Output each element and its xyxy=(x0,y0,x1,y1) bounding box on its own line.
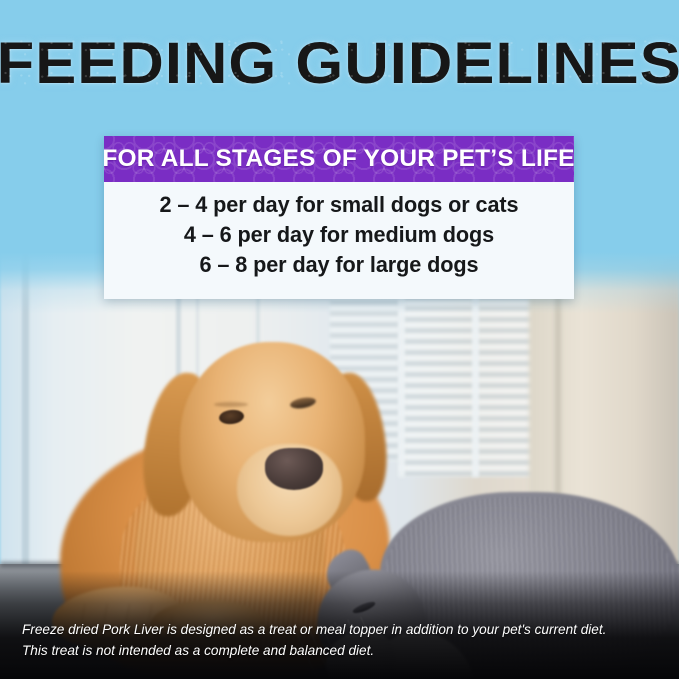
infographic-root: FEEDING GUIDELINES xyxy=(0,0,679,679)
feeding-range: 4 – 6 xyxy=(184,222,232,247)
legal-line-2: This treat is not intended as a complete… xyxy=(22,640,662,661)
feeding-description: per day for small dogs or cats xyxy=(213,192,518,217)
feeding-description: per day for large dogs xyxy=(253,252,478,277)
feeding-line: 4 – 6per day for medium dogs xyxy=(108,220,571,250)
legal-line-1: Freeze dried Pork Liver is designed as a… xyxy=(22,619,662,640)
feeding-guidelines-card: FOR ALL STAGES OF YOUR PET’S LIFE 2 – 4p… xyxy=(104,136,574,299)
dog-nose xyxy=(265,448,323,490)
legal-disclaimer: Freeze dried Pork Liver is designed as a… xyxy=(22,619,662,661)
page-title-area: FEEDING GUIDELINES xyxy=(0,34,679,96)
feeding-range: 6 – 8 xyxy=(199,252,247,277)
dog-brow xyxy=(214,402,248,407)
feeding-description: per day for medium dogs xyxy=(237,222,494,247)
hero-photo xyxy=(0,252,679,679)
card-banner-title: FOR ALL STAGES OF YOUR PET’S LIFE xyxy=(104,145,574,173)
feeding-line: 6 – 8per day for large dogs xyxy=(108,250,571,280)
card-body: 2 – 4per day for small dogs or cats 4 – … xyxy=(104,182,574,290)
feeding-line: 2 – 4per day for small dogs or cats xyxy=(108,190,571,220)
card-banner: FOR ALL STAGES OF YOUR PET’S LIFE xyxy=(104,136,574,182)
feeding-range: 2 – 4 xyxy=(160,192,208,217)
page-title: FEEDING GUIDELINES xyxy=(0,34,679,94)
